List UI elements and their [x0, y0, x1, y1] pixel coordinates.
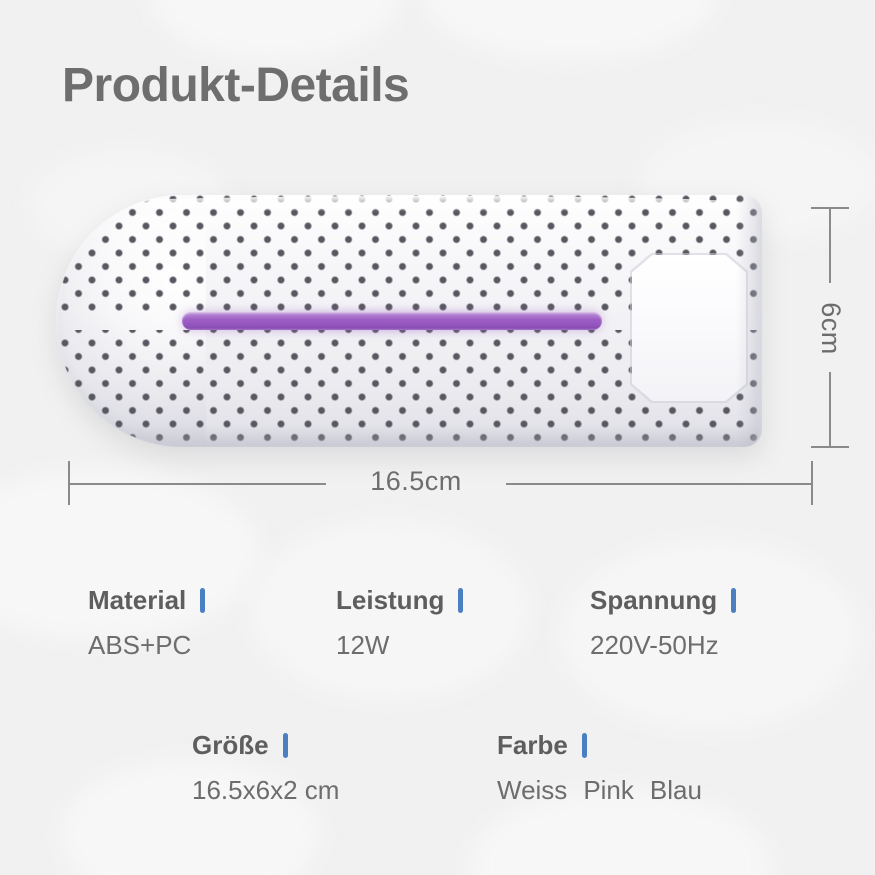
color-option-pink: Pink: [583, 775, 634, 806]
spec-item-size: Größe 16.5x6x2 cm: [192, 730, 339, 806]
width-dimension-endcap-right: [811, 461, 813, 505]
spec-value-material: ABS+PC: [88, 630, 205, 661]
height-dimension-line-top: [829, 208, 831, 283]
color-option-white: Weiss: [497, 775, 567, 806]
spec-item-power: Leistung 12W: [336, 585, 463, 661]
spec-item-voltage: Spannung 220V-50Hz: [590, 585, 736, 661]
width-dimension-line-left: [68, 483, 326, 485]
spec-value-power: 12W: [336, 630, 463, 661]
width-dimension-line-right: [506, 483, 812, 485]
spec-marker-icon: [283, 733, 288, 758]
product-illustration: 16.5cm 6cm: [0, 0, 875, 520]
spec-header: Farbe: [497, 730, 702, 761]
color-option-blue: Blau: [650, 775, 702, 806]
height-dimension-label: 6cm: [805, 283, 855, 373]
spec-item-material: Material ABS+PC: [88, 585, 205, 661]
product-body-bottom-shadow: [86, 425, 762, 447]
spec-value-color-list: Weiss Pink Blau: [497, 775, 702, 806]
spec-value-voltage: 220V-50Hz: [590, 630, 736, 661]
product-body-top-sheen: [96, 196, 756, 212]
spec-marker-icon: [200, 588, 205, 613]
product-body: [56, 195, 762, 447]
product-details-infographic: Produkt-Details 16.5cm 6cm: [0, 0, 875, 875]
width-dimension-endcap-left: [68, 461, 70, 505]
height-dimension-line-bottom: [829, 372, 831, 447]
spec-marker-icon: [458, 588, 463, 613]
spec-header: Spannung: [590, 585, 736, 616]
spec-header: Größe: [192, 730, 339, 761]
spec-item-color: Farbe Weiss Pink Blau: [497, 730, 702, 806]
height-dimension-endcap-top: [811, 207, 849, 209]
spec-label-material: Material: [88, 585, 186, 616]
spec-label-voltage: Spannung: [590, 585, 717, 616]
uv-light-strip: [182, 312, 602, 330]
spec-label-color: Farbe: [497, 730, 568, 761]
control-panel-button: [632, 255, 746, 401]
height-dimension-endcap-bottom: [811, 446, 849, 448]
height-dimension-label-text: 6cm: [815, 302, 846, 355]
spec-header: Leistung: [336, 585, 463, 616]
spec-marker-icon: [731, 588, 736, 613]
spec-value-size: 16.5x6x2 cm: [192, 775, 339, 806]
width-dimension-label: 16.5cm: [326, 466, 506, 497]
spec-header: Material: [88, 585, 205, 616]
spec-label-size: Größe: [192, 730, 269, 761]
spec-marker-icon: [582, 733, 587, 758]
spec-label-power: Leistung: [336, 585, 444, 616]
